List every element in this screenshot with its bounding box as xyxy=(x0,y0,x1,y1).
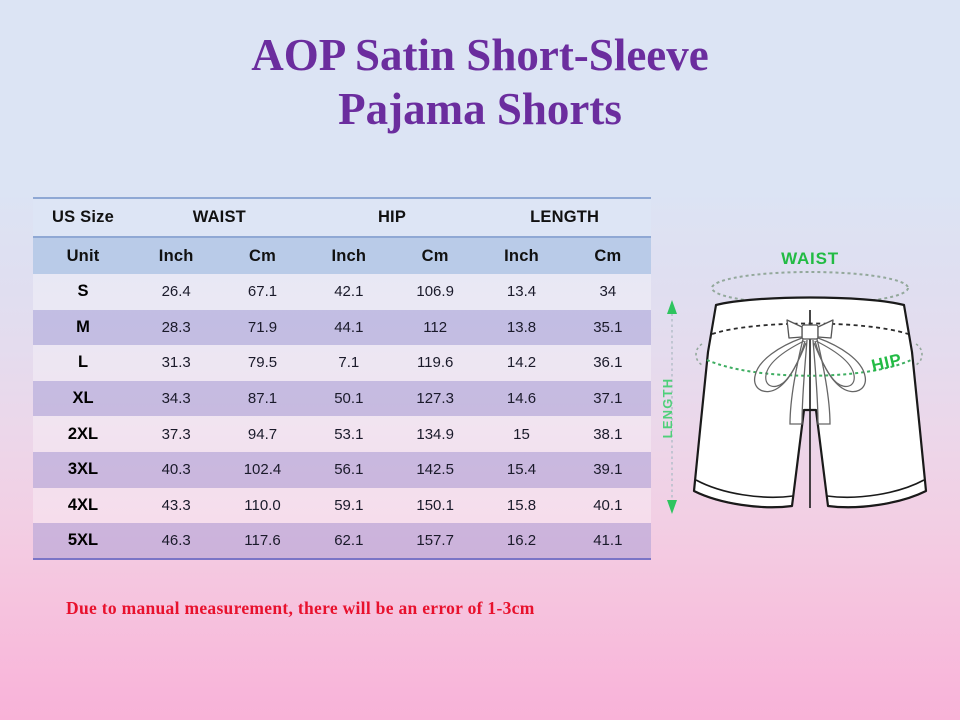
cell-hip-cm: 142.5 xyxy=(392,452,478,488)
cell-hip-cm: 134.9 xyxy=(392,416,478,452)
cell-hip-cm: 106.9 xyxy=(392,274,478,310)
size-chart-table-body: S 26.4 67.1 42.1 106.9 13.4 34 M 28.3 71… xyxy=(33,274,651,559)
size-chart-table-container: US Size WAIST HIP LENGTH Unit Inch Cm In… xyxy=(33,197,651,560)
cell-length-cm: 35.1 xyxy=(565,310,651,346)
unit-header-hip-in: Inch xyxy=(306,237,392,274)
hip-side-hint-left xyxy=(696,344,702,365)
waist-label: WAIST xyxy=(781,249,839,268)
cell-waist-inch: 31.3 xyxy=(133,345,219,381)
unit-header-hip-cm: Cm xyxy=(392,237,478,274)
cell-waist-cm: 79.5 xyxy=(219,345,305,381)
table-row: XL 34.3 87.1 50.1 127.3 14.6 37.1 xyxy=(33,381,651,417)
table-row: M 28.3 71.9 44.1 112 13.8 35.1 xyxy=(33,310,651,346)
cell-length-inch: 13.8 xyxy=(478,310,564,346)
cell-hip-inch: 44.1 xyxy=(306,310,392,346)
unit-header-length-in: Inch xyxy=(478,237,564,274)
cell-waist-inch: 34.3 xyxy=(133,381,219,417)
cell-length-cm: 36.1 xyxy=(565,345,651,381)
cell-size: 3XL xyxy=(33,452,133,488)
cell-hip-cm: 112 xyxy=(392,310,478,346)
cell-waist-inch: 28.3 xyxy=(133,310,219,346)
table-row: L 31.3 79.5 7.1 119.6 14.2 36.1 xyxy=(33,345,651,381)
cell-length-inch: 13.4 xyxy=(478,274,564,310)
cell-length-inch: 14.2 xyxy=(478,345,564,381)
length-arrow-up xyxy=(667,300,677,314)
hip-side-hint-right xyxy=(916,344,922,365)
cell-size: M xyxy=(33,310,133,346)
cell-waist-cm: 110.0 xyxy=(219,488,305,524)
cell-hip-inch: 62.1 xyxy=(306,523,392,559)
garment-diagram: WAIST HIP LENGTH xyxy=(650,248,960,540)
cell-hip-inch: 7.1 xyxy=(306,345,392,381)
measurement-disclaimer: Due to manual measurement, there will be… xyxy=(66,598,535,619)
cell-size: S xyxy=(33,274,133,310)
table-unit-header-row: Unit Inch Cm Inch Cm Inch Cm xyxy=(33,237,651,274)
cell-waist-cm: 87.1 xyxy=(219,381,305,417)
unit-header-waist-in: Inch xyxy=(133,237,219,274)
cell-length-inch: 15 xyxy=(478,416,564,452)
size-chart-table: US Size WAIST HIP LENGTH Unit Inch Cm In… xyxy=(33,197,651,560)
cell-hip-inch: 53.1 xyxy=(306,416,392,452)
cell-hip-inch: 56.1 xyxy=(306,452,392,488)
cell-size: XL xyxy=(33,381,133,417)
table-row: S 26.4 67.1 42.1 106.9 13.4 34 xyxy=(33,274,651,310)
cell-length-cm: 34 xyxy=(565,274,651,310)
cell-waist-cm: 94.7 xyxy=(219,416,305,452)
cell-waist-cm: 102.4 xyxy=(219,452,305,488)
length-arrow-down xyxy=(667,500,677,514)
cell-waist-inch: 43.3 xyxy=(133,488,219,524)
cell-hip-cm: 127.3 xyxy=(392,381,478,417)
group-header-waist: WAIST xyxy=(133,198,306,237)
cell-size: 4XL xyxy=(33,488,133,524)
drawstring-knot xyxy=(802,325,818,339)
group-header-hip: HIP xyxy=(306,198,479,237)
cell-length-inch: 15.4 xyxy=(478,452,564,488)
cell-length-inch: 15.8 xyxy=(478,488,564,524)
cell-waist-inch: 46.3 xyxy=(133,523,219,559)
cell-size: 5XL xyxy=(33,523,133,559)
page-title-line-1: AOP Satin Short-Sleeve xyxy=(0,28,960,82)
page-title: AOP Satin Short-Sleeve Pajama Shorts xyxy=(0,28,960,136)
table-group-header-row: US Size WAIST HIP LENGTH xyxy=(33,198,651,237)
cell-length-cm: 37.1 xyxy=(565,381,651,417)
cell-hip-cm: 150.1 xyxy=(392,488,478,524)
cell-waist-cm: 71.9 xyxy=(219,310,305,346)
cell-hip-cm: 157.7 xyxy=(392,523,478,559)
group-header-length: LENGTH xyxy=(478,198,651,237)
unit-header-unit: Unit xyxy=(33,237,133,274)
table-row: 3XL 40.3 102.4 56.1 142.5 15.4 39.1 xyxy=(33,452,651,488)
unit-header-waist-cm: Cm xyxy=(219,237,305,274)
cell-length-cm: 40.1 xyxy=(565,488,651,524)
cell-waist-inch: 37.3 xyxy=(133,416,219,452)
cell-length-cm: 41.1 xyxy=(565,523,651,559)
table-row: 2XL 37.3 94.7 53.1 134.9 15 38.1 xyxy=(33,416,651,452)
cell-length-cm: 38.1 xyxy=(565,416,651,452)
cell-hip-inch: 50.1 xyxy=(306,381,392,417)
cell-length-inch: 16.2 xyxy=(478,523,564,559)
cell-hip-cm: 119.6 xyxy=(392,345,478,381)
page-title-line-2: Pajama Shorts xyxy=(0,82,960,136)
unit-header-length-cm: Cm xyxy=(565,237,651,274)
table-row: 5XL 46.3 117.6 62.1 157.7 16.2 41.1 xyxy=(33,523,651,559)
cell-length-cm: 39.1 xyxy=(565,452,651,488)
cell-size: L xyxy=(33,345,133,381)
cell-hip-inch: 42.1 xyxy=(306,274,392,310)
length-label: LENGTH xyxy=(660,378,675,439)
cell-waist-inch: 26.4 xyxy=(133,274,219,310)
cell-waist-cm: 67.1 xyxy=(219,274,305,310)
cell-size: 2XL xyxy=(33,416,133,452)
cell-length-inch: 14.6 xyxy=(478,381,564,417)
cell-waist-cm: 117.6 xyxy=(219,523,305,559)
table-row: 4XL 43.3 110.0 59.1 150.1 15.8 40.1 xyxy=(33,488,651,524)
group-header-us-size: US Size xyxy=(33,198,133,237)
cell-waist-inch: 40.3 xyxy=(133,452,219,488)
cell-hip-inch: 59.1 xyxy=(306,488,392,524)
